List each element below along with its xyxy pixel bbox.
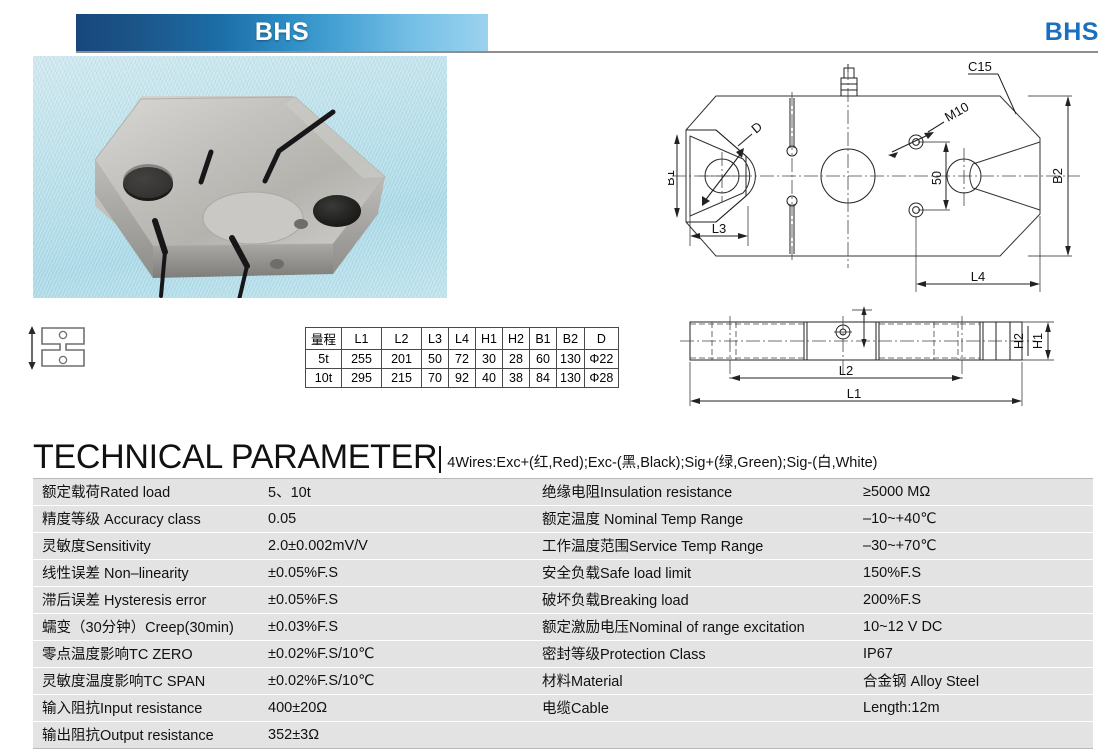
- load-cell-illustration: [33, 56, 447, 298]
- param-value-left: 5、10t: [268, 479, 533, 506]
- label-b2: B2: [1050, 168, 1065, 184]
- table-row: 精度等级 Accuracy class0.05额定温度 Nominal Temp…: [33, 506, 1093, 533]
- param-value-left: ±0.02%F.S/10℃: [268, 641, 533, 668]
- table-row: 额定载荷Rated load5、10t绝缘电阻Insulation resist…: [33, 479, 1093, 506]
- dim-cell: 40: [476, 369, 503, 388]
- brand-label: BHS: [1045, 18, 1099, 47]
- technical-parameter-heading: TECHNICAL PARAMETER 4Wires:Exc+(红,Red);E…: [33, 432, 1093, 474]
- dim-col-d: D: [584, 328, 618, 350]
- table-row: 10t 295 215 70 92 40 38 84 130 Φ28: [306, 369, 619, 388]
- param-value-left: 2.0±0.002mV/V: [268, 533, 533, 560]
- param-label-left: 灵敏度Sensitivity: [33, 533, 268, 560]
- dimension-table-header-row: 量程 L1 L2 L3 L4 H1 H2 B1 B2 D: [306, 328, 619, 350]
- label-m10: M10: [942, 99, 971, 125]
- dim-cell: 92: [449, 369, 476, 388]
- dim-col-h1: H1: [476, 328, 503, 350]
- label-l4: L4: [971, 269, 985, 284]
- wiring-note: 4Wires:Exc+(红,Red);Exc-(黑,Black);Sig+(绿,…: [447, 451, 877, 474]
- hole-bottom-icon: [59, 356, 66, 363]
- param-label-left: 零点温度影响TC ZERO: [33, 641, 268, 668]
- param-label-left: 精度等级 Accuracy class: [33, 506, 268, 533]
- param-label-left: 蠕变（30分钟）Creep(30min): [33, 614, 268, 641]
- small-hole-1: [294, 219, 308, 229]
- param-label-left: 输出阻抗Output resistance: [33, 722, 268, 749]
- dim-cell: 201: [382, 350, 422, 369]
- param-value-left: 0.05: [268, 506, 533, 533]
- label-l2: L2: [839, 363, 853, 378]
- dim-cell: 10t: [306, 369, 342, 388]
- dim-cell: 130: [557, 369, 585, 388]
- leader-m10: [888, 122, 944, 158]
- table-row: 5t 255 201 50 72 30 28 60 130 Φ22: [306, 350, 619, 369]
- param-label-left: 灵敏度温度影响TC SPAN: [33, 668, 268, 695]
- dim-cell: 60: [530, 350, 557, 369]
- param-value-right: ≥5000 MΩ: [863, 479, 1093, 506]
- table-row: 蠕变（30分钟）Creep(30min)±0.03%F.S额定激励电压Nomin…: [33, 614, 1093, 641]
- param-value-right: 150%F.S: [863, 560, 1093, 587]
- dim-col-h2: H2: [503, 328, 530, 350]
- dim-cell: 30: [476, 350, 503, 369]
- dimension-gland-offset: [852, 306, 872, 348]
- product-photo: [33, 56, 447, 298]
- top-view-drawing: B1 L3 D C15 M10 50: [668, 56, 1098, 301]
- dim-cell: 130: [557, 350, 585, 369]
- h-beam-cross-section-icon: [22, 320, 98, 392]
- param-value-right: Length:12m: [863, 695, 1093, 722]
- param-label-right: 电缆Cable: [533, 695, 863, 722]
- param-value-right: –10~+40℃: [863, 506, 1093, 533]
- page-title: TECHNICAL PARAMETER: [33, 440, 437, 474]
- dim-cell: 295: [342, 369, 382, 388]
- label-l3: L3: [712, 221, 726, 236]
- leader-c15: [968, 74, 1016, 114]
- param-label-right: [533, 722, 863, 749]
- param-value-right: –30~+70℃: [863, 533, 1093, 560]
- param-value-right: 合金钢 Alloy Steel: [863, 668, 1093, 695]
- param-value-right: IP67: [863, 641, 1093, 668]
- dim-cell: 72: [449, 350, 476, 369]
- param-label-right: 材料Material: [533, 668, 863, 695]
- dim-cell: 255: [342, 350, 382, 369]
- param-value-left: ±0.05%F.S: [268, 587, 533, 614]
- param-label-right: 安全负载Safe load limit: [533, 560, 863, 587]
- dim-cell: 50: [422, 350, 449, 369]
- dim-cell: 28: [503, 350, 530, 369]
- param-value-right: [863, 722, 1093, 749]
- label-h2: H2: [1012, 333, 1026, 349]
- dim-col-l3: L3: [422, 328, 449, 350]
- param-label-left: 输入阻抗Input resistance: [33, 695, 268, 722]
- header-divider: [76, 51, 1098, 53]
- dim-cell: 70: [422, 369, 449, 388]
- dim-cell: 38: [503, 369, 530, 388]
- table-row: 灵敏度温度影响TC SPAN±0.02%F.S/10℃材料Material合金钢…: [33, 668, 1093, 695]
- param-label-left: 线性误差 Non–linearity: [33, 560, 268, 587]
- table-row: 滞后误差 Hysteresis error±0.05%F.S破坏负载Breaki…: [33, 587, 1093, 614]
- param-label-left: 滞后误差 Hysteresis error: [33, 587, 268, 614]
- param-label-right: 额定激励电压Nominal of range excitation: [533, 614, 863, 641]
- label-b1: B1: [668, 170, 677, 186]
- param-value-left: ±0.05%F.S: [268, 560, 533, 587]
- table-row: 线性误差 Non–linearity±0.05%F.S安全负载Safe load…: [33, 560, 1093, 587]
- dim-cell: 5t: [306, 350, 342, 369]
- dimension-table: 量程 L1 L2 L3 L4 H1 H2 B1 B2 D 5t 255 201 …: [305, 327, 619, 388]
- dim-col-l2: L2: [382, 328, 422, 350]
- label-c15: C15: [968, 59, 992, 74]
- height-arrow-icon: [28, 326, 35, 370]
- dim-col-b2: B2: [557, 328, 585, 350]
- param-label-right: 工作温度范围Service Temp Range: [533, 533, 863, 560]
- param-label-right: 破坏负载Breaking load: [533, 587, 863, 614]
- param-value-right: 200%F.S: [863, 587, 1093, 614]
- param-value-left: ±0.03%F.S: [268, 614, 533, 641]
- dim-col-b1: B1: [530, 328, 557, 350]
- param-value-right: 10~12 V DC: [863, 614, 1093, 641]
- param-label-left: 额定载荷Rated load: [33, 479, 268, 506]
- dim-col-range: 量程: [306, 328, 342, 350]
- header-banner-title: BHS: [255, 18, 309, 47]
- param-value-left: 400±20Ω: [268, 695, 533, 722]
- title-divider-bar: [439, 446, 441, 473]
- dim-col-l4: L4: [449, 328, 476, 350]
- dim-cell: 84: [530, 369, 557, 388]
- small-hole-2: [270, 259, 284, 269]
- param-label-right: 密封等级Protection Class: [533, 641, 863, 668]
- dim-cell: 215: [382, 369, 422, 388]
- technical-parameter-table: 额定载荷Rated load5、10t绝缘电阻Insulation resist…: [33, 478, 1093, 749]
- label-50: 50: [930, 171, 944, 185]
- param-value-left: 352±3Ω: [268, 722, 533, 749]
- dim-col-l1: L1: [342, 328, 382, 350]
- label-d: D: [748, 119, 765, 137]
- param-label-right: 绝缘电阻Insulation resistance: [533, 479, 863, 506]
- label-l1: L1: [847, 386, 861, 401]
- label-h1: H1: [1031, 333, 1045, 349]
- table-row: 灵敏度Sensitivity2.0±0.002mV/V工作温度范围Service…: [33, 533, 1093, 560]
- side-view-drawing: H1 H2 L2 L1: [676, 300, 1106, 410]
- header-banner: BHS: [76, 14, 488, 51]
- hole-top-icon: [59, 331, 66, 338]
- table-row: 零点温度影响TC ZERO±0.02%F.S/10℃密封等级Protection…: [33, 641, 1093, 668]
- param-value-left: ±0.02%F.S/10℃: [268, 668, 533, 695]
- dim-cell: Φ28: [584, 369, 618, 388]
- table-row: 输出阻抗Output resistance352±3Ω: [33, 722, 1093, 749]
- table-row: 输入阻抗Input resistance400±20Ω电缆CableLength…: [33, 695, 1093, 722]
- param-label-right: 额定温度 Nominal Temp Range: [533, 506, 863, 533]
- dim-cell: Φ22: [584, 350, 618, 369]
